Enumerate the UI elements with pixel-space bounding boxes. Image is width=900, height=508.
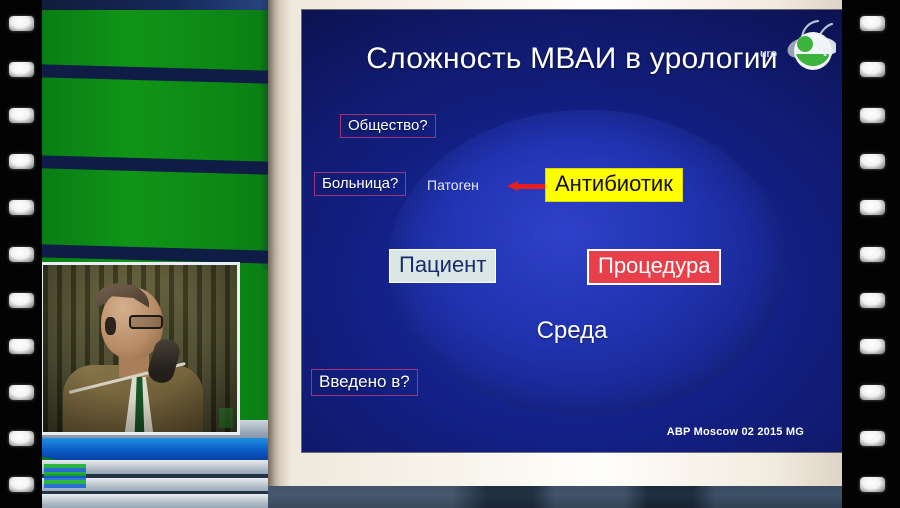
arrow-shaft [516,184,547,189]
label-pathogen: Патоген [427,177,479,193]
desk-ring [42,494,284,508]
urotv-bug-logo: uro tv [758,18,836,80]
film-sprocket-hole [9,16,34,31]
film-sprocket-hole [9,431,34,446]
label-hospital[interactable]: Больница? [314,172,406,196]
film-sprocket-hole [860,200,885,215]
paper-spine-shadow [268,0,280,508]
film-sprocket-hole [860,477,885,492]
film-sprocket-hole [860,293,885,308]
film-sprocket-hole [860,62,885,77]
arrow-left-icon [507,181,547,191]
presentation-slide: Сложность МВАИ в урологии uro tv Обществ… [302,10,842,452]
film-sprocket-hole [860,385,885,400]
film-sprocket-hole [9,108,34,123]
label-environment: Среда [302,317,842,345]
film-sprocket-hole [9,339,34,354]
box-patient[interactable]: Пациент [389,249,496,283]
film-sprocket-hole [9,200,34,215]
studio-wall-band [42,155,284,176]
film-sprocket-hole [860,16,885,31]
film-sprocket-hole [860,339,885,354]
studio-ceiling-strip [42,0,284,10]
film-sprocket-hole [860,431,885,446]
bottom-desk-strip [268,486,842,508]
box-procedure[interactable]: Процедура [587,249,721,285]
screenshot-root: Сложность МВАИ в урологии uro tv Обществ… [0,0,900,508]
film-sprocket-hole [860,154,885,169]
film-sprocket-hole [9,477,34,492]
film-sprocket-hole [9,247,34,262]
label-introduced[interactable]: Введено в? [311,369,418,396]
desk-green-accent [44,464,86,488]
logo-suffix: tv [822,44,834,59]
film-strip-right [842,0,900,508]
box-antibiotic[interactable]: Антибиотик [545,168,683,202]
video-vignette [43,265,237,432]
film-sprocket-hole [9,62,34,77]
logo-word: uro [760,48,777,60]
speaker-video-inset[interactable] [40,262,240,435]
film-sprocket-hole [9,154,34,169]
film-sprocket-hole [860,247,885,262]
film-sprocket-hole [9,385,34,400]
slide-credit: ABP Moscow 02 2015 MG [667,426,804,438]
studio-wall-band [42,64,284,85]
film-strip-left [0,0,42,508]
film-sprocket-hole [9,293,34,308]
film-sprocket-hole [860,108,885,123]
label-society[interactable]: Общество? [340,114,436,138]
